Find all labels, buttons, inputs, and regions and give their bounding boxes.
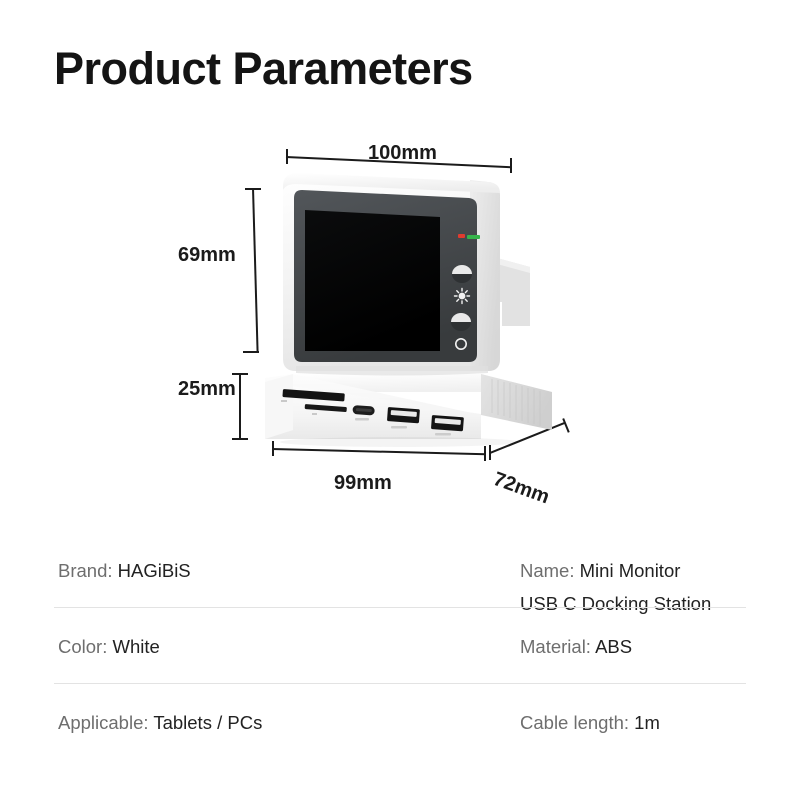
dock-left-edge xyxy=(265,374,293,439)
product-illustration xyxy=(0,130,800,520)
spec-key: Cable length: xyxy=(520,712,629,733)
sun-icon xyxy=(455,289,470,304)
led-green-icon xyxy=(467,235,480,239)
monitor-foot xyxy=(296,366,488,376)
spec-value: ABS xyxy=(595,636,632,657)
monitor-screen xyxy=(305,210,440,351)
dock-base xyxy=(265,374,552,439)
product-parameters-page: Product Parameters 100mm 69mm 25mm 99mm … xyxy=(0,0,800,800)
product-figure: 100mm 69mm 25mm 99mm 72mm xyxy=(0,130,800,520)
spec-key: Name: xyxy=(520,560,575,581)
spec-cell-material: Material: ABS xyxy=(54,608,746,683)
spec-value: 1m xyxy=(634,712,660,733)
spec-row: Color: White Material: ABS xyxy=(54,607,746,683)
spec-row: Brand: HAGiBiS Name: Mini Monitor USB C … xyxy=(54,532,746,607)
spec-row: Applicable: Tablets / PCs Cable length: … xyxy=(54,683,746,759)
page-title: Product Parameters xyxy=(54,44,473,94)
ground-shadow xyxy=(280,437,520,447)
mini-monitor xyxy=(283,173,530,376)
spec-value: Mini Monitor xyxy=(580,560,681,581)
specifications-table: Brand: HAGiBiS Name: Mini Monitor USB C … xyxy=(54,532,746,759)
spec-key: Material: xyxy=(520,636,591,657)
spec-cell-cable-length: Cable length: 1m xyxy=(54,684,746,759)
led-red-icon xyxy=(458,234,465,238)
